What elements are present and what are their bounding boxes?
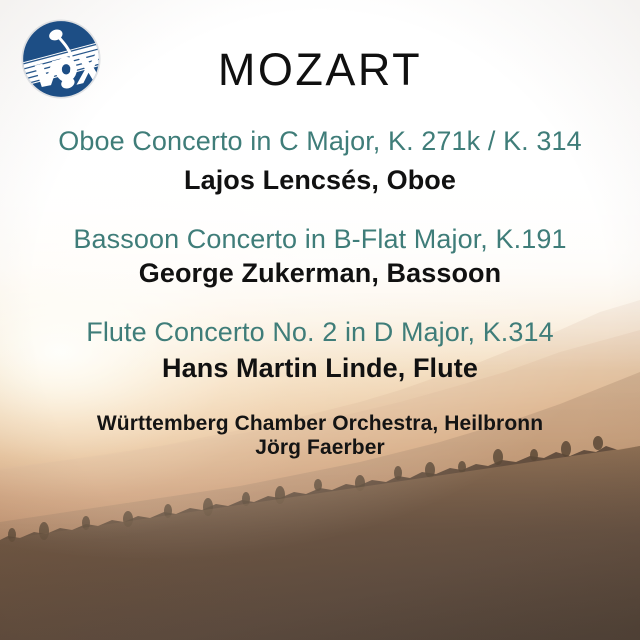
work-title-flute: Flute Concerto No. 2 in D Major, K.314	[0, 315, 640, 349]
work-title-bassoon: Bassoon Concerto in B-Flat Major, K.191	[0, 222, 640, 256]
cover-text-block: MOZART Oboe Concerto in C Major, K. 271k…	[0, 0, 640, 640]
work-title-oboe: Oboe Concerto in C Major, K. 271k / K. 3…	[0, 124, 640, 158]
performer-bassoon: George Zukerman, Bassoon	[0, 256, 640, 290]
orchestra-credit: Württemberg Chamber Orchestra, Heilbronn	[0, 410, 640, 437]
album-cover: MOZART Oboe Concerto in C Major, K. 271k…	[0, 0, 640, 640]
performer-oboe: Lajos Lencsés, Oboe	[0, 163, 640, 197]
conductor-credit: Jörg Faerber	[0, 434, 640, 461]
composer-name: MOZART	[0, 44, 640, 96]
performer-flute: Hans Martin Linde, Flute	[0, 351, 640, 385]
